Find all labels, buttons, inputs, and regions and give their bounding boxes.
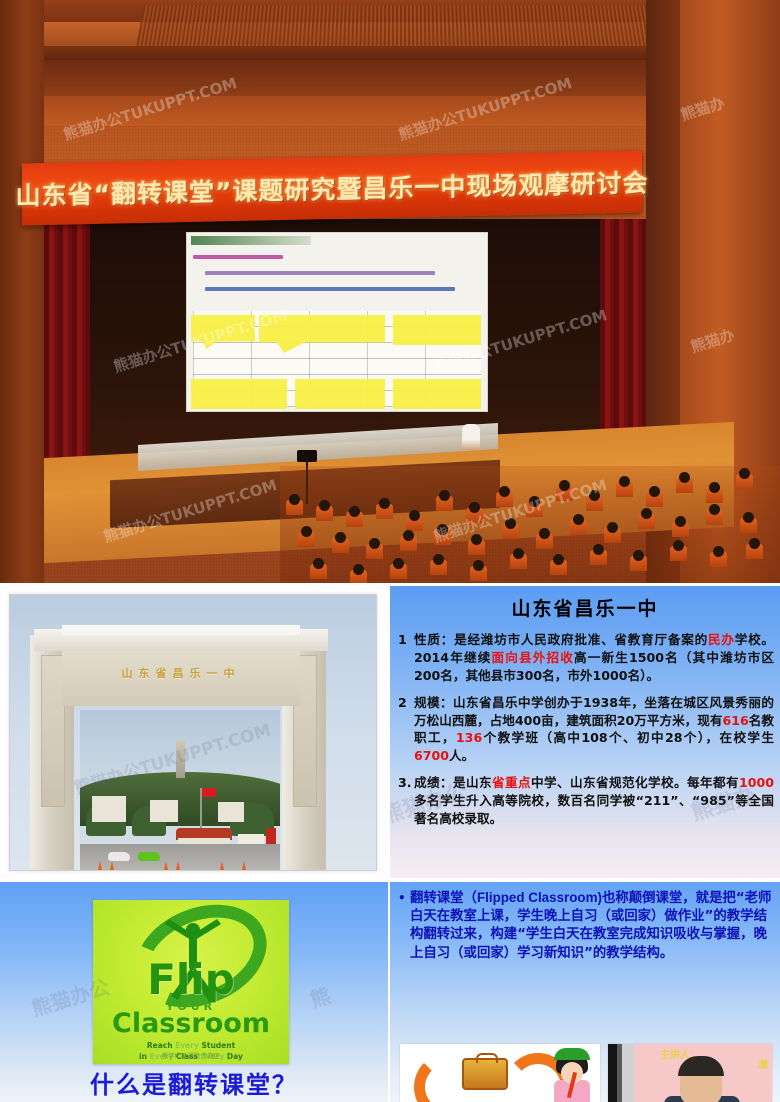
school-info-list: 1性质：是经潍坊市人民政府批准、省教育厅备案的民办学校。2014年继续面向县外招… bbox=[398, 631, 774, 828]
conference-banner: 山东省“翻转课堂”课题研究暨昌乐一中现场观摩研讨会 bbox=[22, 151, 642, 226]
watermark-flip-2: 熊 bbox=[306, 980, 334, 1014]
school-info-item: 2规模：山东省昌乐中学创办于1938年，坐落在城区风景秀丽的万松山西麓，占地40… bbox=[398, 694, 774, 766]
stage-speaker bbox=[462, 424, 480, 450]
school-gate-photo: 山东省昌乐一中 熊猫办公TUKUPPT.COM bbox=[0, 586, 388, 878]
national-flag bbox=[202, 788, 216, 797]
wall-pillar-left bbox=[0, 0, 44, 583]
school-info-item-number: 2 bbox=[398, 694, 414, 766]
definition-english: Flipped Classroom) bbox=[477, 890, 602, 905]
speaker-photo: 主讲人： 潍 bbox=[608, 1044, 772, 1102]
school-info-title: 山东省昌乐一中 bbox=[390, 594, 780, 621]
slide-line-2 bbox=[205, 287, 455, 291]
campus-building-2 bbox=[150, 800, 178, 822]
auditorium-photo: 山东省“翻转课堂”课题研究暨昌乐一中现场观摩研讨会 bbox=[0, 0, 780, 583]
campus-building-3 bbox=[218, 802, 244, 822]
gate-photo-frame: 山东省昌乐一中 熊猫办公TUKUPPT.COM bbox=[9, 594, 377, 871]
slide-deck-page: 山东省“翻转课堂”课题研究暨昌乐一中现场观摩研讨会 bbox=[0, 0, 780, 1102]
school-info-item-number: 1 bbox=[398, 631, 414, 685]
campus-building-1 bbox=[92, 796, 126, 822]
school-info-item: 3.成绩：是山东省重点中学、山东省规范化学校。每年都有1000多名学生升入高等院… bbox=[398, 774, 774, 828]
car-green bbox=[138, 852, 160, 861]
school-info-panel: 山东省昌乐一中 1性质：是经潍坊市人民政府批准、省教育厅备案的民办学校。2014… bbox=[390, 586, 780, 878]
flipped-classroom-definition: • 翻转课堂（Flipped Classroom)也称颠倒课堂，就是把“老师白天… bbox=[398, 889, 772, 963]
body-text: 规模：山东省昌乐中学创办于1938年，坐落在城区风景秀丽的万松山西麓，占地400… bbox=[414, 695, 774, 728]
flip-word: Flip bbox=[93, 960, 289, 1000]
flipped-classroom-panel: • 翻转课堂（Flipped Classroom)也称颠倒课堂，就是把“老师白天… bbox=[390, 882, 780, 1102]
hill-tower bbox=[176, 740, 185, 778]
illustration-row: 主讲人： 潍 bbox=[400, 1044, 772, 1102]
flip-logo-footer: 教学化网·课题·专题区 bbox=[93, 1051, 289, 1060]
flip-logo-panel: Flip YOUR Classroom Reach Every Student … bbox=[0, 882, 388, 1102]
student-hat bbox=[554, 1048, 590, 1060]
student-figure bbox=[550, 1050, 594, 1100]
soffit-lower bbox=[30, 96, 750, 126]
slide-line-1 bbox=[205, 271, 435, 275]
audience-seating bbox=[280, 466, 780, 583]
body-text: 成绩：是山东 bbox=[414, 775, 492, 790]
body-text: 性质：是经潍坊市人民政府批准、省教育厅备案的 bbox=[414, 632, 708, 647]
school-info-item-number: 3. bbox=[398, 774, 414, 828]
flip-question-text: 什么是翻转课堂？ bbox=[0, 1065, 388, 1100]
highlighted-text: 136 bbox=[456, 730, 482, 745]
conference-banner-text: 山东省“翻转课堂”课题研究暨昌乐一中现场观摩研讨会 bbox=[22, 151, 642, 226]
slide-callout-4 bbox=[191, 379, 287, 409]
slide-callout-6 bbox=[393, 379, 481, 409]
slide-logo bbox=[191, 236, 311, 245]
ceiling-grill bbox=[136, 5, 664, 48]
speaker-label-2: 潍 bbox=[758, 1056, 768, 1071]
car-white bbox=[108, 852, 130, 861]
school-info-item: 1性质：是经潍坊市人民政府批准、省教育厅备案的民办学校。2014年继续面向县外招… bbox=[398, 631, 774, 685]
gate-cornice-cap bbox=[62, 625, 300, 635]
slide-callout-5 bbox=[295, 379, 385, 409]
tagline-1b: Every bbox=[175, 1041, 199, 1050]
flip-cycle-illustration bbox=[400, 1044, 600, 1102]
slide-heading bbox=[193, 255, 283, 259]
body-text: 人。 bbox=[449, 748, 474, 763]
body-text: 多名学生升入高等院校，数百名同学被“211”、“985”等全国著名高校录取。 bbox=[414, 793, 774, 826]
tagline-1a: Reach bbox=[147, 1041, 175, 1050]
projection-screen bbox=[186, 232, 488, 412]
highlighted-text: 面向县外招收 bbox=[491, 650, 574, 665]
school-info-item-text: 规模：山东省昌乐中学创办于1938年，坐落在城区风景秀丽的万松山西麓，占地400… bbox=[414, 694, 774, 766]
definition-text: 翻转课堂（Flipped Classroom)也称颠倒课堂，就是把“老师白天在教… bbox=[410, 889, 772, 963]
slide-callout-3 bbox=[393, 315, 481, 345]
school-bag-icon bbox=[462, 1058, 508, 1090]
highlighted-text: 616 bbox=[722, 713, 748, 728]
highlighted-text: 民办 bbox=[708, 632, 735, 647]
photo-left-bar bbox=[608, 1044, 634, 1102]
highlighted-text: 6700 bbox=[414, 748, 449, 763]
school-info-item-text: 成绩：是山东省重点中学、山东省规范化学校。每年都有1000多名学生升入高等院校，… bbox=[414, 774, 774, 828]
school-info-item-text: 性质：是经潍坊市人民政府批准、省教育厅备案的民办学校。2014年继续面向县外招收… bbox=[414, 631, 774, 685]
bullet-icon: • bbox=[398, 889, 410, 963]
body-text: 中学、山东省规范化学校。每年都有 bbox=[531, 775, 739, 790]
body-text: 个教学班（高中108个、初中28个），在校学生 bbox=[482, 730, 774, 745]
flip-classroom-word: Classroom bbox=[93, 1008, 289, 1039]
gate-inscription: 山东省昌乐一中 bbox=[62, 665, 300, 681]
definition-head: 翻转课堂（ bbox=[410, 891, 477, 906]
highlighted-text: 省重点 bbox=[492, 775, 531, 790]
highlighted-text: 1000 bbox=[739, 775, 774, 790]
gate-opening bbox=[80, 710, 280, 870]
tagline-1c: Student bbox=[199, 1041, 235, 1050]
flip-your-classroom-logo: Flip YOUR Classroom Reach Every Student … bbox=[93, 900, 289, 1064]
